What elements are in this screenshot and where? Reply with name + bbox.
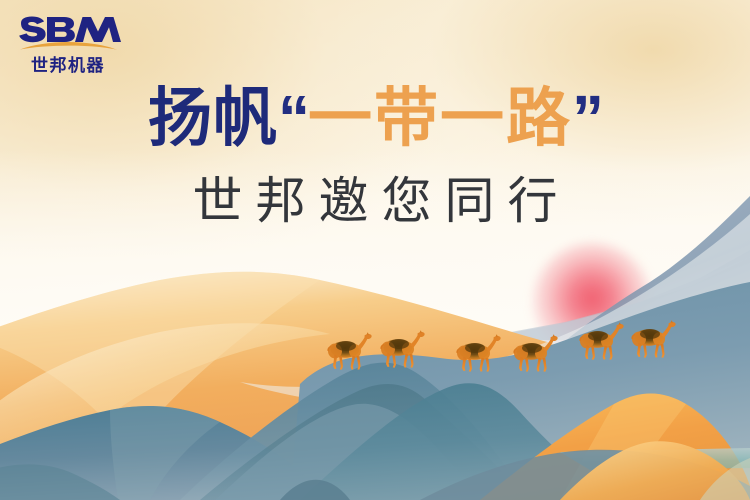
camel-icon (513, 334, 557, 372)
camel-icon (327, 332, 371, 370)
desert-landscape (0, 0, 750, 500)
camel-icon (579, 322, 623, 360)
sun-icon (533, 243, 651, 359)
sky-fade-lower (0, 150, 750, 350)
camel-icon (380, 330, 424, 368)
camel-caravan (0, 0, 750, 500)
sbm-wordmark (19, 17, 121, 43)
sky-glow-right (338, 0, 750, 225)
camel-icon (631, 320, 675, 358)
headline-slogan: 一带一路 (308, 82, 572, 154)
sbm-logo-icon[interactable]: 世邦机器 (14, 9, 122, 75)
page-title: 扬帆“一带一路” (0, 86, 750, 150)
orange-swoosh-icon (20, 42, 117, 50)
headline-quote-open: “ (278, 82, 308, 154)
camel-icon (456, 334, 500, 372)
promo-banner: 世邦机器 扬帆“一带一路” 世邦邀您同行 (0, 0, 750, 500)
headline-quote-close: ” (572, 82, 602, 154)
headline-lead: 扬帆 (148, 82, 278, 154)
headline-block: 扬帆“一带一路” 世邦邀您同行 (0, 86, 750, 226)
svg-text:世邦机器: 世邦机器 (31, 55, 105, 75)
page-subtitle: 世邦邀您同行 (0, 176, 750, 226)
